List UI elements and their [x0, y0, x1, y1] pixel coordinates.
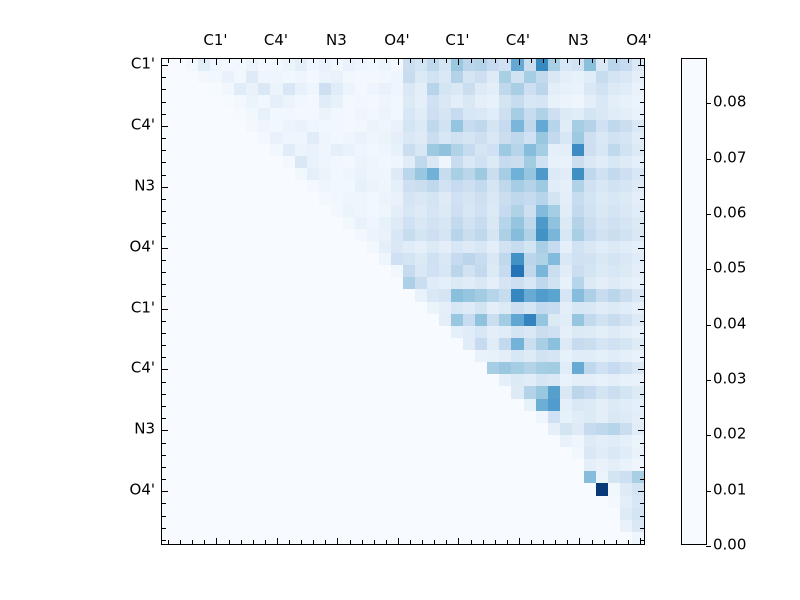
heatmap-cell — [186, 520, 198, 532]
heatmap-cell — [572, 132, 584, 144]
heatmap-cell — [536, 520, 548, 532]
heatmap-cell — [427, 459, 439, 471]
x-tick — [410, 59, 411, 63]
y-tick — [162, 516, 166, 517]
heatmap-cell — [246, 205, 258, 217]
heatmap-cell — [258, 108, 270, 120]
heatmap-cell — [246, 459, 258, 471]
heatmap-cell — [319, 326, 331, 338]
heatmap-cell — [439, 71, 451, 83]
heatmap-cell — [379, 265, 391, 277]
heatmap-cell — [246, 156, 258, 168]
heatmap-cell — [572, 471, 584, 483]
heatmap-cell — [379, 411, 391, 423]
heatmap-cell — [403, 326, 415, 338]
heatmap-cell — [331, 496, 343, 508]
x-tick — [325, 59, 326, 63]
heatmap-cell — [295, 289, 307, 301]
heatmap-cell — [536, 399, 548, 411]
heatmap-cell — [427, 192, 439, 204]
heatmap-cell — [222, 180, 234, 192]
heatmap-cell — [222, 265, 234, 277]
heatmap-cell — [283, 520, 295, 532]
heatmap-cell — [439, 217, 451, 229]
heatmap-cell — [548, 180, 560, 192]
heatmap-cell — [596, 496, 608, 508]
heatmap-cell — [548, 83, 560, 95]
heatmap-cell — [210, 314, 222, 326]
heatmap-cell — [548, 132, 560, 144]
heatmap-cell — [475, 399, 487, 411]
heatmap-cell — [608, 265, 620, 277]
heatmap-cell — [463, 168, 475, 180]
heatmap-cell — [463, 132, 475, 144]
heatmap-cell — [355, 423, 367, 435]
heatmap-cell — [186, 156, 198, 168]
heatmap-cell — [487, 289, 499, 301]
heatmap-cell — [367, 314, 379, 326]
heatmap-cell — [307, 241, 319, 253]
colorbar-tick-label: 0.05 — [713, 261, 746, 276]
heatmap-cell — [258, 374, 270, 386]
heatmap-cell — [379, 229, 391, 241]
heatmap-cell — [415, 277, 427, 289]
y-tick — [640, 516, 644, 517]
y-tick — [162, 369, 168, 370]
heatmap-cell — [536, 435, 548, 447]
heatmap-cell — [560, 168, 572, 180]
heatmap-cell — [403, 253, 415, 265]
heatmap-cell — [560, 229, 572, 241]
heatmap-cell — [186, 350, 198, 362]
heatmap-cell — [511, 59, 523, 71]
heatmap-cell — [174, 132, 186, 144]
heatmap-cell — [319, 520, 331, 532]
heatmap-cell — [451, 289, 463, 301]
heatmap-cell — [415, 217, 427, 229]
heatmap-cell — [246, 314, 258, 326]
heatmap-cell — [295, 423, 307, 435]
y-tick — [162, 479, 166, 480]
heatmap-cell — [391, 265, 403, 277]
heatmap-cell — [270, 180, 282, 192]
heatmap-cell — [427, 350, 439, 362]
heatmap-cell — [524, 108, 536, 120]
heatmap-cell — [548, 496, 560, 508]
heatmap-cell — [403, 532, 415, 544]
heatmap-cell — [572, 95, 584, 107]
heatmap-cell — [475, 144, 487, 156]
heatmap-cell — [186, 289, 198, 301]
heatmap-cell — [427, 374, 439, 386]
heatmap-cell — [463, 326, 475, 338]
heatmap-cell — [463, 192, 475, 204]
y-tick — [640, 138, 644, 139]
heatmap-cell — [499, 71, 511, 83]
heatmap-cell — [307, 277, 319, 289]
heatmap-cell — [234, 277, 246, 289]
heatmap-cell — [524, 314, 536, 326]
heatmap-cell — [162, 314, 174, 326]
heatmap-cell — [355, 374, 367, 386]
heatmap-cell — [463, 362, 475, 374]
heatmap-cell — [307, 386, 319, 398]
heatmap-cell — [222, 508, 234, 520]
heatmap-cell — [427, 423, 439, 435]
heatmap-cell — [319, 168, 331, 180]
heatmap-cell — [572, 386, 584, 398]
heatmap-cell — [415, 508, 427, 520]
heatmap-cell — [295, 471, 307, 483]
heatmap-cell — [620, 168, 632, 180]
heatmap-cell — [524, 241, 536, 253]
heatmap-cell — [295, 459, 307, 471]
heatmap-cell — [427, 302, 439, 314]
heatmap-cell — [439, 108, 451, 120]
heatmap-cell — [548, 192, 560, 204]
heatmap-cell — [307, 217, 319, 229]
heatmap-cell — [246, 168, 258, 180]
heatmap-cell — [427, 314, 439, 326]
heatmap-cell — [367, 447, 379, 459]
y-tick — [162, 394, 166, 395]
x-tick — [567, 540, 568, 544]
heatmap-cell — [222, 241, 234, 253]
heatmap-cell — [246, 289, 258, 301]
heatmap-cell — [524, 229, 536, 241]
heatmap-cell — [355, 265, 367, 277]
heatmap-cell — [632, 411, 644, 423]
heatmap-cell — [343, 520, 355, 532]
heatmap-cell — [524, 459, 536, 471]
heatmap-cell — [620, 95, 632, 107]
heatmap-cell — [572, 156, 584, 168]
heatmap-cell — [210, 95, 222, 107]
heatmap-cell — [246, 508, 258, 520]
heatmap-cell — [427, 326, 439, 338]
heatmap-cell — [451, 83, 463, 95]
heatmap-cell — [415, 447, 427, 459]
x-tick — [337, 59, 338, 65]
y-tick — [640, 272, 644, 273]
heatmap-cell — [487, 241, 499, 253]
heatmap-cell — [307, 459, 319, 471]
heatmap-cell — [584, 217, 596, 229]
heatmap-cell — [632, 302, 644, 314]
heatmap-cell — [270, 217, 282, 229]
heatmap-cell — [283, 350, 295, 362]
heatmap-cell — [186, 374, 198, 386]
y-tick-label: C4' — [131, 117, 155, 132]
heatmap-cell — [343, 132, 355, 144]
heatmap-cell — [234, 326, 246, 338]
heatmap-cell — [475, 108, 487, 120]
heatmap-cell — [572, 59, 584, 71]
heatmap-cell — [367, 144, 379, 156]
heatmap-cell — [560, 83, 572, 95]
heatmap-cell — [403, 314, 415, 326]
heatmap-cell — [451, 314, 463, 326]
heatmap-cell — [499, 120, 511, 132]
heatmap-cell — [475, 496, 487, 508]
heatmap-cell — [295, 217, 307, 229]
heatmap-cell — [536, 59, 548, 71]
heatmap-cell — [246, 483, 258, 495]
heatmap-cell — [475, 253, 487, 265]
heatmap-cell — [246, 83, 258, 95]
heatmap-cell — [379, 399, 391, 411]
heatmap-cell — [572, 205, 584, 217]
heatmap-cell — [524, 192, 536, 204]
heatmap-cell — [427, 83, 439, 95]
heatmap-cell — [403, 144, 415, 156]
y-tick — [162, 102, 166, 103]
heatmap-cell — [270, 399, 282, 411]
heatmap-cell — [499, 265, 511, 277]
heatmap-cell — [596, 532, 608, 544]
heatmap-cell — [596, 471, 608, 483]
heatmap-cell — [246, 496, 258, 508]
heatmap-cell — [319, 411, 331, 423]
heatmap-cell — [379, 350, 391, 362]
colorbar-tick-label: 0.00 — [713, 538, 746, 553]
heatmap-cell — [198, 423, 210, 435]
heatmap-cell — [608, 459, 620, 471]
heatmap-cell — [403, 508, 415, 520]
heatmap-cell — [367, 168, 379, 180]
heatmap-cell — [307, 144, 319, 156]
heatmap-cell — [475, 217, 487, 229]
heatmap-cell — [186, 399, 198, 411]
heatmap-cell — [511, 374, 523, 386]
heatmap-cell — [210, 229, 222, 241]
heatmap-cell — [524, 374, 536, 386]
heatmap-cell — [596, 459, 608, 471]
heatmap-cell — [415, 532, 427, 544]
heatmap-cell — [210, 435, 222, 447]
heatmap-cell — [355, 277, 367, 289]
heatmap-cell — [560, 386, 572, 398]
heatmap-cell — [487, 411, 499, 423]
x-tick — [495, 540, 496, 544]
heatmap-cell — [222, 435, 234, 447]
heatmap-cell — [403, 423, 415, 435]
heatmap-cell — [307, 483, 319, 495]
heatmap-cell — [560, 338, 572, 350]
heatmap-cell — [162, 471, 174, 483]
heatmap-cell — [246, 144, 258, 156]
colorbar-tick-label: 0.03 — [713, 371, 746, 386]
heatmap-cell — [307, 95, 319, 107]
heatmap-cell — [560, 217, 572, 229]
heatmap-cell — [487, 496, 499, 508]
colorbar[interactable] — [681, 58, 707, 545]
x-tick-label: O4' — [626, 33, 651, 48]
heatmap-cell — [463, 435, 475, 447]
heatmap-cell — [608, 532, 620, 544]
heatmap-cell — [439, 132, 451, 144]
heatmap-cell — [283, 132, 295, 144]
heatmap-cell — [632, 338, 644, 350]
heatmap-cell — [596, 411, 608, 423]
heatmap-cell — [548, 59, 560, 71]
heatmap-cell — [258, 205, 270, 217]
heatmap-cell — [295, 156, 307, 168]
heatmap-cell — [620, 265, 632, 277]
heatmap-cell — [186, 496, 198, 508]
heatmap-cell — [367, 180, 379, 192]
heatmap-cell — [524, 144, 536, 156]
heatmap-cell — [632, 350, 644, 362]
heatmap-cell — [403, 374, 415, 386]
heatmap-cell — [536, 120, 548, 132]
heatmap-cell — [367, 289, 379, 301]
heatmap-cell — [572, 338, 584, 350]
heatmap-cell — [355, 338, 367, 350]
heatmap-cell — [560, 362, 572, 374]
y-tick — [162, 175, 166, 176]
heatmap-cell — [499, 374, 511, 386]
heatmap-cell — [331, 180, 343, 192]
x-tick — [543, 540, 544, 544]
heatmap-cell — [536, 386, 548, 398]
heatmap-cell — [355, 289, 367, 301]
heatmap-cell — [391, 508, 403, 520]
heatmap-cell — [451, 132, 463, 144]
heatmap-cell — [499, 59, 511, 71]
heatmap-cell — [210, 205, 222, 217]
x-tick — [446, 540, 447, 544]
heatmap-cell — [162, 447, 174, 459]
heatmap-cell — [319, 265, 331, 277]
heatmap-cell — [499, 483, 511, 495]
heatmap-axes[interactable] — [161, 58, 645, 545]
heatmap-cell — [234, 217, 246, 229]
heatmap-cell — [427, 289, 439, 301]
heatmap-cell — [499, 253, 511, 265]
heatmap-cell — [391, 520, 403, 532]
heatmap-cell — [427, 435, 439, 447]
heatmap-cell — [415, 386, 427, 398]
heatmap-cell — [572, 277, 584, 289]
heatmap-cell — [307, 314, 319, 326]
heatmap-cell — [560, 156, 572, 168]
heatmap-cell — [608, 374, 620, 386]
heatmap-cell — [620, 241, 632, 253]
heatmap-cell — [283, 459, 295, 471]
heatmap-cell — [343, 435, 355, 447]
y-tick — [640, 394, 644, 395]
heatmap-cell — [367, 95, 379, 107]
heatmap-cell — [270, 289, 282, 301]
heatmap-cell — [331, 277, 343, 289]
heatmap-cell — [439, 192, 451, 204]
heatmap-cell — [451, 168, 463, 180]
heatmap-cell — [270, 423, 282, 435]
heatmap-cell — [246, 399, 258, 411]
heatmap-cell — [620, 496, 632, 508]
heatmap-cell — [234, 435, 246, 447]
heatmap-cell — [560, 520, 572, 532]
heatmap-cell — [222, 459, 234, 471]
heatmap-cell — [222, 289, 234, 301]
heatmap-cell — [174, 277, 186, 289]
heatmap-cells[interactable] — [162, 59, 644, 544]
heatmap-cell — [258, 289, 270, 301]
heatmap-cell — [511, 314, 523, 326]
heatmap-cell — [319, 459, 331, 471]
heatmap-cell — [463, 120, 475, 132]
heatmap-cell — [487, 508, 499, 520]
x-tick — [604, 59, 605, 63]
heatmap-cell — [572, 326, 584, 338]
heatmap-cell — [210, 277, 222, 289]
heatmap-cell — [536, 314, 548, 326]
heatmap-cell — [415, 132, 427, 144]
heatmap-cell — [367, 374, 379, 386]
heatmap-cell — [427, 205, 439, 217]
heatmap-cell — [210, 71, 222, 83]
colorbar-tick-label: 0.04 — [713, 316, 746, 331]
heatmap-cell — [584, 483, 596, 495]
x-tick — [216, 59, 217, 65]
heatmap-cell — [186, 83, 198, 95]
y-tick — [162, 126, 168, 127]
heatmap-cell — [270, 374, 282, 386]
heatmap-cell — [620, 411, 632, 423]
heatmap-cell — [560, 59, 572, 71]
x-tick — [301, 59, 302, 63]
heatmap-cell — [355, 241, 367, 253]
heatmap-cell — [391, 253, 403, 265]
heatmap-cell — [487, 205, 499, 217]
y-tick — [162, 491, 168, 492]
heatmap-cell — [475, 241, 487, 253]
heatmap-cell — [391, 120, 403, 132]
heatmap-cell — [548, 253, 560, 265]
heatmap-cell — [560, 205, 572, 217]
heatmap-cell — [246, 374, 258, 386]
heatmap-cell — [343, 289, 355, 301]
heatmap-cell — [524, 423, 536, 435]
heatmap-cell — [427, 483, 439, 495]
heatmap-cell — [463, 59, 475, 71]
heatmap-cell — [283, 423, 295, 435]
x-tick — [471, 540, 472, 544]
heatmap-cell — [548, 386, 560, 398]
heatmap-cell — [355, 71, 367, 83]
heatmap-cell — [451, 435, 463, 447]
y-tick — [162, 284, 166, 285]
heatmap-cell — [319, 508, 331, 520]
heatmap-cell — [295, 496, 307, 508]
heatmap-cell — [572, 520, 584, 532]
heatmap-cell — [463, 302, 475, 314]
heatmap-cell — [174, 265, 186, 277]
heatmap-cell — [487, 399, 499, 411]
heatmap-cell — [234, 83, 246, 95]
heatmap-cell — [584, 192, 596, 204]
heatmap-cell — [343, 217, 355, 229]
x-tick — [192, 59, 193, 63]
heatmap-cell — [499, 520, 511, 532]
heatmap-cell — [379, 120, 391, 132]
heatmap-cell — [355, 483, 367, 495]
heatmap-cell — [487, 180, 499, 192]
heatmap-cell — [475, 435, 487, 447]
heatmap-cell — [246, 411, 258, 423]
y-tick — [162, 430, 168, 431]
